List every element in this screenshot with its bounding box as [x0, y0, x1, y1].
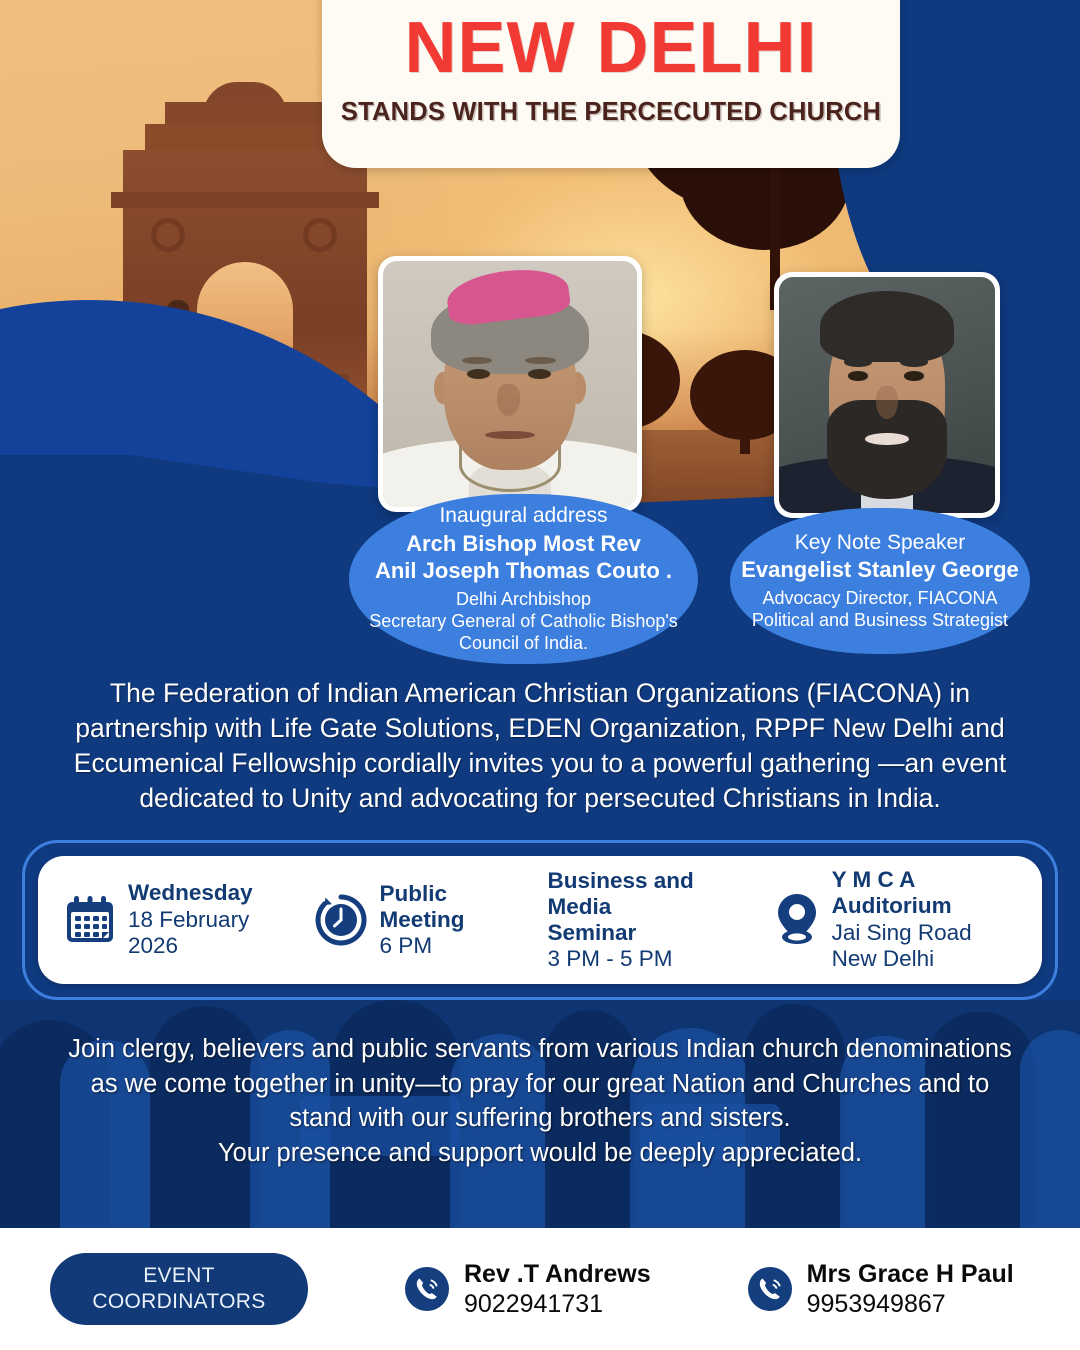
event-details-bar: Wednesday 18 February 2026 Public Meetin… [38, 856, 1042, 984]
speaker-desc-line1: Advocacy Director, FIACONA [762, 588, 997, 610]
detail-time: Public Meeting 6 PM [314, 881, 522, 960]
contact-number[interactable]: 9022941731 [464, 1289, 651, 1319]
contact-name: Mrs Grace H Paul [807, 1260, 1014, 1289]
speaker-photo-bishop [378, 256, 642, 512]
time-label: Public Meeting [380, 881, 522, 933]
page-subtitle: STANDS WITH THE PERCECUTED CHURCH [322, 98, 900, 127]
date-weekday: Wednesday [128, 880, 288, 906]
page-title: NEW DELHI [322, 12, 900, 84]
detail-date: Wednesday 18 February 2026 [64, 880, 288, 959]
contact-name: Rev .T Andrews [464, 1260, 651, 1289]
event-poster: NEW DELHI STANDS WITH THE PERCECUTED CHU… [0, 0, 1080, 1350]
seminar-time: 3 PM - 5 PM [547, 946, 747, 973]
detail-seminar: Business and Media Seminar 3 PM - 5 PM [547, 868, 747, 973]
coordinators-label-line1: EVENT [143, 1263, 215, 1289]
contact-1[interactable]: Rev .T Andrews 9022941731 [404, 1260, 651, 1319]
clock-icon [314, 893, 368, 947]
speaker-photo-evangelist [774, 272, 1000, 518]
seminar-label-line1: Business and Media [547, 868, 747, 920]
venue-city: New Delhi [832, 946, 1020, 973]
speaker-caption-bishop: Inaugural address Arch Bishop Most Rev A… [349, 494, 698, 664]
coordinators-label-line2: COORDINATORS [92, 1289, 265, 1315]
poster-title-card: NEW DELHI STANDS WITH THE PERCECUTED CHU… [322, 0, 900, 168]
speaker-desc-line2: Political and Business Strategist [752, 610, 1008, 632]
speaker-role: Inaugural address [439, 503, 607, 529]
closing-line-3: stand with our suffering brothers and si… [50, 1101, 1030, 1136]
closing-paragraph: Join clergy, believers and public servan… [50, 1032, 1030, 1171]
speaker-desc-line1: Delhi Archbishop [456, 589, 591, 611]
venue-street: Jai Sing Road [832, 920, 1020, 947]
detail-venue: Y M C A Auditorium Jai Sing Road New Del… [774, 867, 1020, 972]
speaker-name-line2: Anil Joseph Thomas Couto . [375, 558, 672, 585]
speaker-name-line1: Arch Bishop Most Rev [406, 531, 641, 558]
event-coordinators-badge: EVENT COORDINATORS [50, 1253, 308, 1325]
speaker-caption-evangelist: Key Note Speaker Evangelist Stanley Geor… [730, 508, 1030, 654]
speaker-name-line1: Evangelist Stanley George [741, 557, 1019, 584]
location-pin-icon [774, 892, 820, 948]
contact-2[interactable]: Mrs Grace H Paul 9953949867 [747, 1260, 1014, 1319]
closing-line-4: Your presence and support would be deepl… [50, 1136, 1030, 1171]
tree-trunk-small [740, 412, 750, 454]
date-value: 18 February 2026 [128, 907, 288, 960]
intro-paragraph: The Federation of Indian American Christ… [50, 676, 1030, 816]
phone-icon[interactable] [747, 1266, 793, 1312]
time-value: 6 PM [380, 933, 522, 960]
poster-footer: EVENT COORDINATORS Rev .T Andrews 902294… [0, 1228, 1080, 1350]
calendar-icon [64, 894, 116, 946]
closing-line-2: as we come together in unity—to pray for… [50, 1067, 1030, 1102]
speaker-role: Key Note Speaker [795, 530, 965, 556]
seminar-label-line2: Seminar [547, 920, 747, 946]
speaker-desc-line3: Council of India. [459, 633, 588, 655]
speaker-desc-line2: Secretary General of Catholic Bishop's [369, 611, 678, 633]
contact-number[interactable]: 9953949867 [807, 1289, 1014, 1319]
closing-line-1: Join clergy, believers and public servan… [50, 1032, 1030, 1067]
venue-name: Y M C A Auditorium [832, 867, 1020, 919]
phone-icon[interactable] [404, 1266, 450, 1312]
